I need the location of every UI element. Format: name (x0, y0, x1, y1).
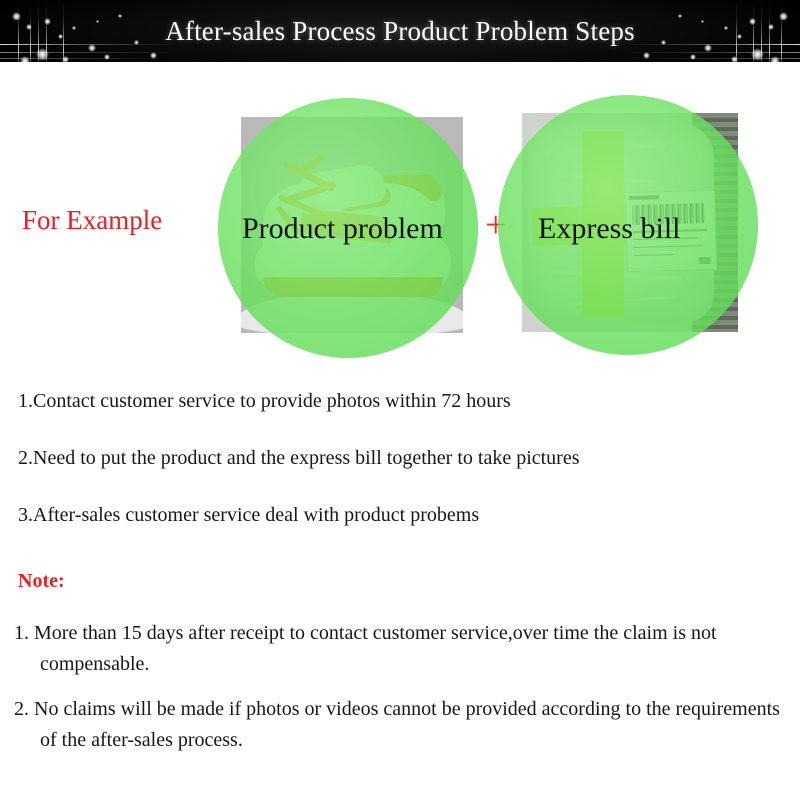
step-item: 1.Contact customer service to provide ph… (18, 390, 788, 413)
header-banner: After-sales Process Product Problem Step… (0, 0, 800, 62)
note-text: No claims will be made if photos or vide… (34, 698, 780, 751)
product-problem-caption: Product problem (242, 212, 443, 246)
note-marker: 2. (14, 698, 29, 720)
page-title: After-sales Process Product Problem Step… (0, 0, 800, 62)
note-list: 1. More than 15 days after receipt to co… (14, 618, 794, 770)
note-marker: 1. (14, 622, 29, 644)
step-item: 3.After-sales customer service deal with… (18, 504, 788, 527)
steps-list: 1.Contact customer service to provide ph… (18, 390, 788, 561)
note-item: 1. More than 15 days after receipt to co… (14, 618, 794, 680)
step-item: 2.Need to put the product and the expres… (18, 447, 788, 470)
for-example-label: For Example (22, 205, 162, 236)
express-bill-caption: Express bill (538, 212, 681, 246)
note-text: More than 15 days after receipt to conta… (34, 622, 717, 675)
note-heading: Note: (18, 570, 65, 593)
note-item: 2. No claims will be made if photos or v… (14, 694, 794, 756)
